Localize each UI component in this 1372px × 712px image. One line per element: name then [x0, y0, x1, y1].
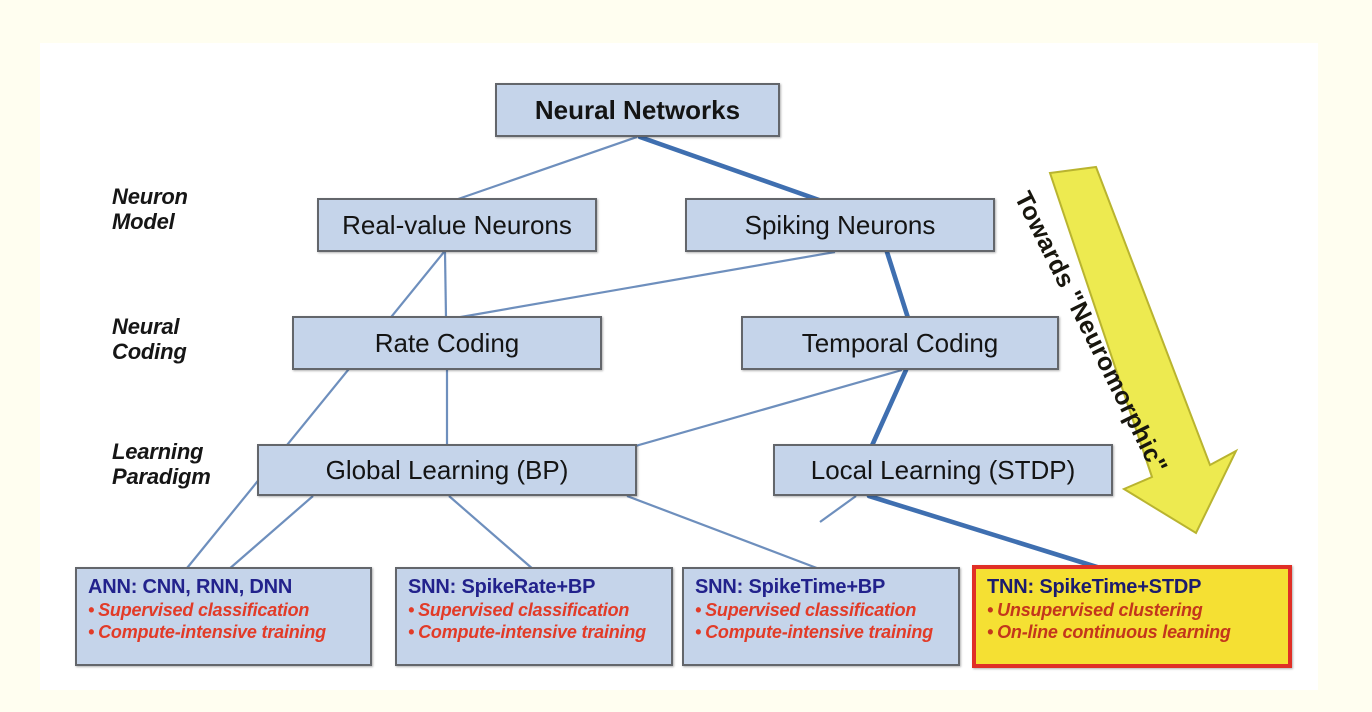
bullet-glyph: • [88, 622, 94, 642]
leaf-tnn-bullet-1: •Unsupervised clustering [987, 600, 1279, 622]
node-rate-coding-label: Rate Coding [375, 330, 520, 356]
leaf-ann[interactable]: ANN: CNN, RNN, DNN •Supervised classific… [75, 567, 372, 666]
leaf-snn-spikerate-bullet-1: •Supervised classification [408, 600, 662, 622]
row-label-neural-coding: Neural Coding [112, 315, 187, 364]
leaf-tnn-title: TNN: SpikeTime+STDP [987, 576, 1279, 600]
bullet-glyph: • [408, 600, 414, 620]
row-label-neuron-model: Neuron Model [112, 185, 188, 234]
leaf-snn-spikerate[interactable]: SNN: SpikeRate+BP •Supervised classifica… [395, 567, 673, 666]
node-global-learning[interactable]: Global Learning (BP) [257, 444, 637, 496]
leaf-snn-spikerate-bullet-2-text: Compute-intensive training [418, 622, 646, 642]
node-neural-networks-label: Neural Networks [535, 97, 740, 123]
figure-root: Neuron Model Neural Coding Learning Para… [0, 0, 1372, 712]
node-global-learning-label: Global Learning (BP) [326, 457, 569, 483]
node-spiking-neurons[interactable]: Spiking Neurons [685, 198, 995, 252]
bullet-glyph: • [408, 622, 414, 642]
leaf-tnn-bullet-1-text: Unsupervised clustering [997, 600, 1202, 620]
leaf-ann-bullet-1: •Supervised classification [88, 600, 361, 622]
leaf-snn-spiketime-bullet-2-text: Compute-intensive training [705, 622, 933, 642]
leaf-snn-spiketime[interactable]: SNN: SpikeTime+BP •Supervised classifica… [682, 567, 960, 666]
node-real-value-neurons[interactable]: Real-value Neurons [317, 198, 597, 252]
leaf-snn-spiketime-bullet-1-text: Supervised classification [705, 600, 916, 620]
leaf-snn-spiketime-bullet-1: •Supervised classification [695, 600, 949, 622]
leaf-snn-spikerate-title: SNN: SpikeRate+BP [408, 576, 662, 600]
leaf-tnn-bullet-2: •On-line continuous learning [987, 622, 1279, 644]
leaf-snn-spikerate-bullet-2: •Compute-intensive training [408, 622, 662, 644]
node-rate-coding[interactable]: Rate Coding [292, 316, 602, 370]
neuromorphic-arrow-shape [1020, 165, 1240, 535]
bullet-glyph: • [88, 600, 94, 620]
leaf-tnn-bullet-2-text: On-line continuous learning [997, 622, 1231, 642]
leaf-snn-spikerate-bullet-1-text: Supervised classification [418, 600, 629, 620]
bullet-glyph: • [987, 622, 993, 642]
leaf-ann-bullet-2-text: Compute-intensive training [98, 622, 326, 642]
leaf-ann-bullet-1-text: Supervised classification [98, 600, 309, 620]
leaf-tnn[interactable]: TNN: SpikeTime+STDP •Unsupervised cluste… [972, 565, 1292, 668]
leaf-ann-title: ANN: CNN, RNN, DNN [88, 576, 361, 600]
leaf-snn-spiketime-bullet-2: •Compute-intensive training [695, 622, 949, 644]
bullet-glyph: • [695, 622, 701, 642]
leaf-ann-bullet-2: •Compute-intensive training [88, 622, 361, 644]
leaf-snn-spiketime-title: SNN: SpikeTime+BP [695, 576, 949, 600]
row-label-learning-paradigm: Learning Paradigm [112, 440, 211, 489]
neuromorphic-arrow: Towards "Neuromorphic" [1020, 165, 1240, 535]
node-temporal-coding[interactable]: Temporal Coding [741, 316, 1059, 370]
bullet-glyph: • [987, 600, 993, 620]
node-spiking-neurons-label: Spiking Neurons [745, 212, 936, 238]
bullet-glyph: • [695, 600, 701, 620]
node-neural-networks[interactable]: Neural Networks [495, 83, 780, 137]
node-real-value-neurons-label: Real-value Neurons [342, 212, 572, 238]
node-temporal-coding-label: Temporal Coding [802, 330, 999, 356]
